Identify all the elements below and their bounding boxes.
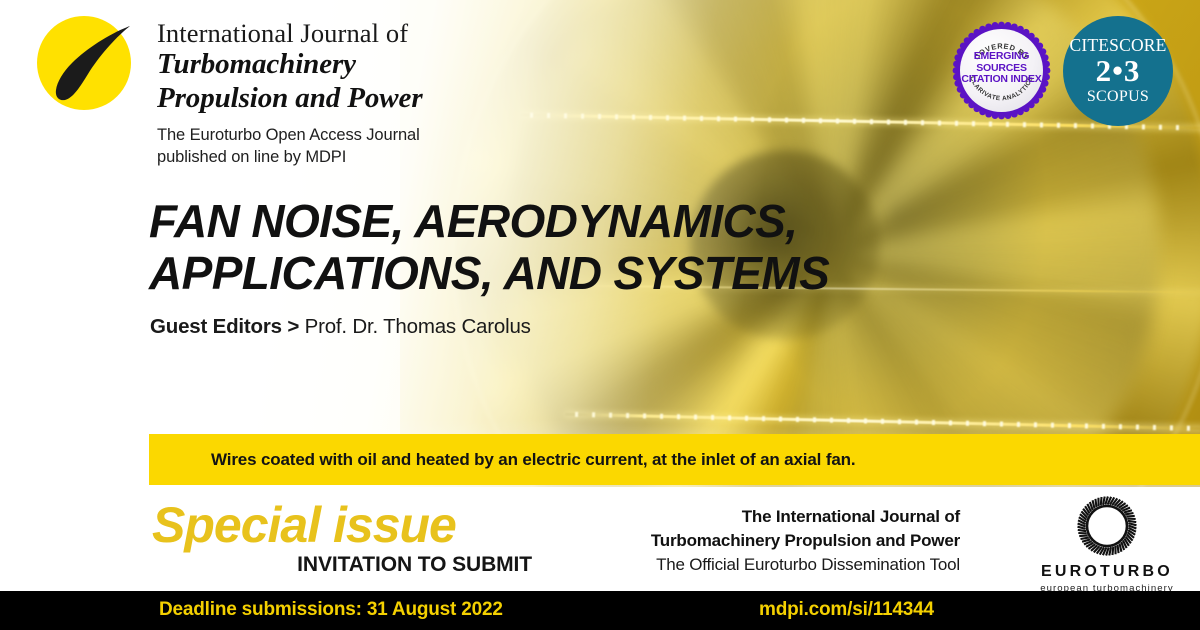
esci-line-1: EMERGING	[949, 51, 1054, 63]
esci-text: COVERED BY CLARIVATE ANALYTICS EMERGING …	[949, 18, 1054, 123]
guest-editors-separator: >	[287, 315, 299, 338]
euroturbo-logo-block: EUROTURBO european turbomachinery societ…	[1022, 495, 1192, 605]
logo-blade-swoosh-icon	[33, 10, 137, 114]
euroturbo-rotor-ring-icon	[1076, 495, 1138, 557]
journal-masthead: International Journal of Turbomachinery …	[33, 10, 423, 169]
journal-line-2: Turbomachinery	[157, 48, 423, 82]
esci-line-3: CITATION INDEX	[949, 74, 1054, 86]
citescore-badge: CITESCORE 2•3 SCOPUS	[1063, 16, 1173, 126]
euroturbo-name: EUROTURBO	[1022, 563, 1192, 581]
journal-logo-icon	[33, 10, 137, 114]
journal-line-1: International Journal of	[157, 19, 423, 48]
guest-editors-label: Guest Editors	[150, 315, 282, 338]
journal-line-3: Propulsion and Power	[157, 82, 423, 116]
page-title-line-2: APPLICATIONS, AND SYSTEMS	[149, 248, 889, 300]
page-title: FAN NOISE, AERODYNAMICS, APPLICATIONS, A…	[149, 196, 889, 299]
esci-badge: COVERED BY CLARIVATE ANALYTICS EMERGING …	[949, 18, 1054, 123]
special-issue-poster: International Journal of Turbomachinery …	[0, 0, 1200, 630]
special-issue-block: Special issue INVITATION TO SUBMIT	[152, 500, 532, 577]
image-caption-bar: Wires coated with oil and heated by an e…	[149, 434, 1200, 485]
journal-subtitle: The Euroturbo Open Access Journal publis…	[157, 124, 423, 169]
page-title-line-1: FAN NOISE, AERODYNAMICS,	[149, 195, 797, 247]
esci-main-text: EMERGING SOURCES CITATION INDEX	[949, 51, 1054, 86]
citescore-source: SCOPUS	[1087, 89, 1149, 105]
guest-editors: Guest Editors > Prof. Dr. Thomas Carolus	[150, 315, 531, 339]
invitation-subheading: INVITATION TO SUBMIT	[152, 553, 532, 577]
journal-subtitle-2: published on line by MDPI	[157, 146, 423, 168]
journal-subtitle-1: The Euroturbo Open Access Journal	[157, 124, 423, 146]
journal-desc-line-2: Turbomachinery Propulsion and Power	[560, 529, 960, 553]
special-issue-heading: Special issue	[152, 500, 532, 550]
guest-editors-names: Prof. Dr. Thomas Carolus	[305, 315, 531, 338]
masthead-text: International Journal of Turbomachinery …	[157, 10, 423, 169]
deadline-text: Deadline submissions: 31 August 2022	[159, 599, 503, 621]
citescore-label: CITESCORE	[1069, 37, 1166, 55]
journal-desc-line-1: The International Journal of	[560, 505, 960, 529]
image-caption-text: Wires coated with oil and heated by an e…	[211, 450, 855, 470]
journal-description-block: The International Journal of Turbomachin…	[560, 505, 960, 577]
citescore-value: 2•3	[1096, 55, 1141, 88]
journal-desc-line-3: The Official Euroturbo Dissemination Too…	[560, 553, 960, 577]
submission-url[interactable]: mdpi.com/si/114344	[759, 599, 934, 621]
